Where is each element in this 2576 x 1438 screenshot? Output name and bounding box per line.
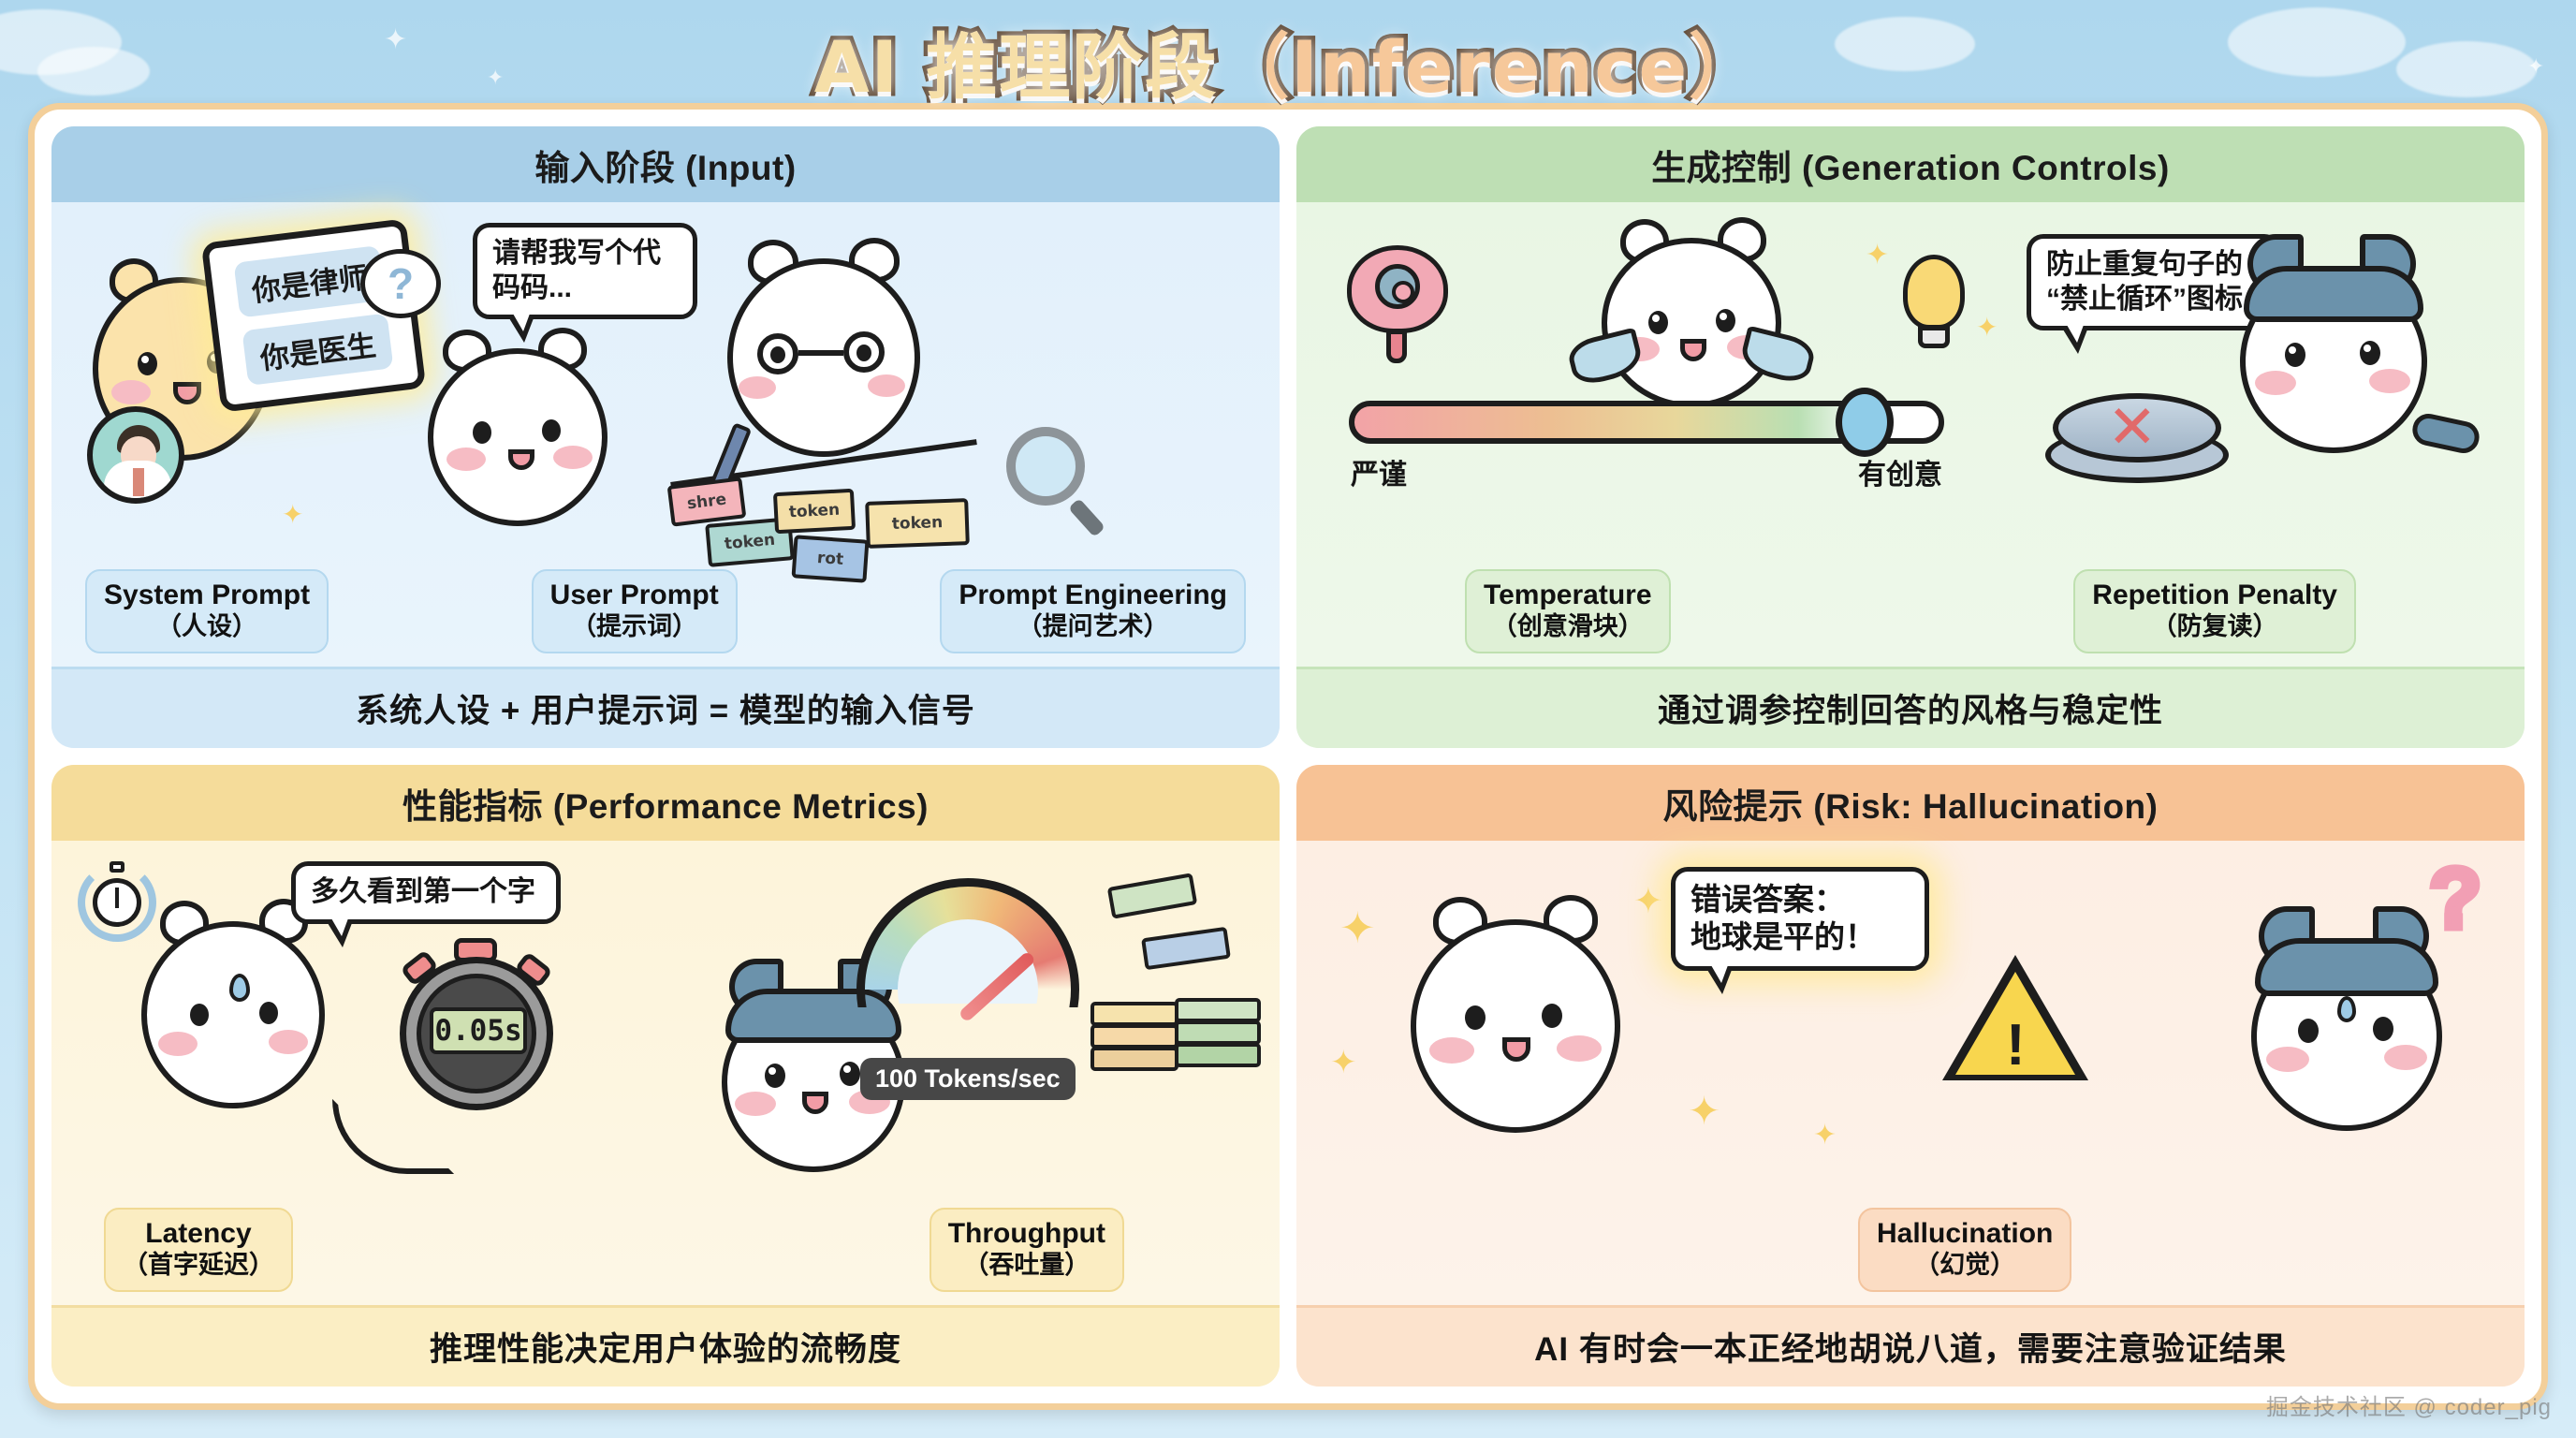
- panel-input-header: 输入阶段 (Input): [51, 126, 1280, 202]
- close-icon: ✕: [2107, 397, 2158, 457]
- doctor-avatar-icon: [87, 406, 184, 504]
- chip-label-cn: （创意滑块）: [1484, 612, 1652, 641]
- sparkle-icon: ✦: [1976, 315, 1998, 341]
- character-blue-hat-cat: [2223, 234, 2485, 496]
- temperature-slider-thumb[interactable]: [1836, 388, 1894, 457]
- chip-label-en: Repetition Penalty: [2092, 580, 2337, 612]
- token-stack-block: [1090, 1002, 1178, 1026]
- token-stack-block: [1175, 1043, 1261, 1067]
- page-title-cn: AI 推理阶段: [814, 25, 1219, 109]
- throughput-badge: 100 Tokens/sec: [860, 1058, 1076, 1100]
- panel-performance-body: 多久看到第一个字 0.05s: [51, 841, 1280, 1305]
- cat-tail-icon: [2409, 411, 2481, 456]
- token-stack-block: [1090, 1047, 1178, 1071]
- token-block: shre: [667, 477, 747, 526]
- chip-user-prompt[interactable]: User Prompt （提示词）: [532, 569, 738, 653]
- chip-hallucination[interactable]: Hallucination （幻觉）: [1858, 1208, 2071, 1292]
- sweat-drop-icon: [229, 974, 250, 1002]
- magnifier-handle-icon: [1068, 498, 1105, 537]
- performance-chip-row: Latency （首字延迟） Throughput （吞吐量）: [51, 1208, 1280, 1292]
- token-block: token: [773, 489, 856, 534]
- chip-label-cn: （提示词）: [550, 612, 719, 641]
- user-prompt-bubble: 请帮我写个代码码...: [473, 223, 697, 319]
- sparkle-icon: ✦: [1813, 1122, 1837, 1150]
- panel-generation-footer: 通过调参控制回答的风格与稳定性: [1296, 667, 2525, 748]
- panel-input: 输入阶段 (Input) ✦ ✦: [51, 126, 1280, 748]
- lightbulb-icon: [1903, 255, 1965, 330]
- panel-risk-body: ✦ ✦ ✦ ✦ ✦ 错误答案： 地球是平的！ !: [1296, 841, 2525, 1305]
- token-stack-block: [1175, 1020, 1261, 1045]
- chip-label-cn: （幻觉）: [1877, 1251, 2053, 1280]
- stopwatch-display: 0.05s: [430, 1007, 527, 1054]
- chip-label-en: Latency: [123, 1218, 274, 1251]
- slider-label-right: 有创意: [1858, 451, 1942, 492]
- risk-chip-row: Hallucination （幻觉）: [1296, 1208, 2525, 1292]
- panel-risk-header: 风险提示 (Risk: Hallucination): [1296, 765, 2525, 841]
- panel-risk-hallucination: 风险提示 (Risk: Hallucination) ✦ ✦ ✦ ✦ ✦ 错误答…: [1296, 765, 2525, 1387]
- slider-label-left: 严谨: [1351, 451, 1407, 492]
- gear-icon: [1375, 264, 1420, 309]
- sparkle-icon: ✦: [1339, 906, 1376, 949]
- panel-generation-body: ✦ ✦ 严谨 有创意 防止重复句子的 “禁止循环”图标 ✕: [1296, 202, 2525, 667]
- chip-throughput[interactable]: Throughput （吞吐量）: [929, 1208, 1124, 1292]
- question-mark-bubble-icon: ?: [360, 249, 441, 318]
- chip-label-en: System Prompt: [104, 580, 310, 612]
- panel-input-footer: 系统人设 + 用户提示词 = 模型的输入信号: [51, 667, 1280, 748]
- generation-chip-row: Temperature （创意滑块） Repetition Penalty （防…: [1296, 569, 2525, 653]
- cat-hair-icon: [2255, 938, 2438, 996]
- warning-exclamation-icon: !: [2006, 1017, 2026, 1075]
- panel-performance-header: 性能指标 (Performance Metrics): [51, 765, 1280, 841]
- chip-latency[interactable]: Latency （首字延迟）: [104, 1208, 293, 1292]
- sparkle-icon: ✦: [1330, 1047, 1357, 1078]
- token-stack-block: [1090, 1024, 1178, 1049]
- panel-performance-footer: 推理性能决定用户体验的流畅度: [51, 1305, 1280, 1387]
- chip-label-en: User Prompt: [550, 580, 719, 612]
- watermark: 掘金技术社区 @ coder_pig: [2266, 1388, 2552, 1421]
- character-confused-cat: [2232, 906, 2504, 1187]
- chip-repetition-penalty[interactable]: Repetition Penalty （防复读）: [2073, 569, 2356, 653]
- token-stack-block: [1175, 998, 1261, 1022]
- infographic-board: 输入阶段 (Input) ✦ ✦: [28, 103, 2548, 1410]
- panel-generation-header: 生成控制 (Generation Controls): [1296, 126, 2525, 202]
- panel-risk-footer: AI 有时会一本正经地胡说八道，需要注意验证结果: [1296, 1305, 2525, 1387]
- character-white-bear-user: [418, 324, 652, 539]
- confused-question-icon: ?: [2429, 856, 2481, 942]
- magnifier-icon: [1006, 427, 1085, 506]
- clock-top-icon: [110, 861, 124, 873]
- lightbulb-base-icon: [1918, 326, 1950, 348]
- sweat-drop-icon: [2337, 996, 2356, 1022]
- panel-performance-metrics: 性能指标 (Performance Metrics) 多久看到第一个字: [51, 765, 1280, 1387]
- token-block: token: [865, 498, 970, 549]
- chip-label-cn: （吞吐量）: [948, 1251, 1105, 1280]
- chip-label-cn: （防复读）: [2092, 612, 2337, 641]
- sparkle-icon: ✦: [1866, 242, 1889, 270]
- chip-label-cn: （首字延迟）: [123, 1251, 274, 1280]
- clock-hand-icon: [115, 888, 119, 908]
- chip-label-en: Hallucination: [1877, 1218, 2053, 1251]
- panel-input-body: ✦ ✦ 你是律师 你是医生 ? 请帮我写个代码码...: [51, 202, 1280, 667]
- chip-label-cn: （提问艺术）: [959, 612, 1227, 641]
- chip-label-en: Prompt Engineering: [959, 580, 1227, 612]
- page-title-en: （Inference）: [1218, 25, 1762, 109]
- stopwatch-cord-icon: [332, 1099, 454, 1174]
- character-proud-bear: [1386, 891, 1686, 1191]
- sparkle-icon: ✦: [282, 502, 303, 528]
- panel-generation-controls: 生成控制 (Generation Controls): [1296, 126, 2525, 748]
- sparkle-icon: ✦: [1688, 1092, 1720, 1131]
- token-stack-block: [1107, 873, 1198, 918]
- page-title: AI 推理阶段（Inference）: [0, 6, 2576, 122]
- chip-label-en: Temperature: [1484, 580, 1652, 612]
- cat-hair-icon: [2244, 266, 2423, 322]
- chip-prompt-engineering[interactable]: Prompt Engineering （提问艺术）: [940, 569, 1246, 653]
- token-stack-block: [1141, 927, 1231, 970]
- latency-bubble: 多久看到第一个字: [291, 861, 561, 924]
- chip-label-en: Throughput: [948, 1218, 1105, 1251]
- wrong-answer-bubble: 错误答案： 地球是平的！: [1671, 867, 1929, 971]
- input-chip-row: System Prompt （人设） User Prompt （提示词） Pro…: [51, 569, 1280, 653]
- chip-label-cn: （人设）: [104, 612, 310, 641]
- brain-stem-icon: [1386, 330, 1407, 363]
- chip-system-prompt[interactable]: System Prompt （人设）: [85, 569, 329, 653]
- tablet-line: 你是医生: [241, 313, 393, 386]
- chip-temperature[interactable]: Temperature （创意滑块）: [1465, 569, 1671, 653]
